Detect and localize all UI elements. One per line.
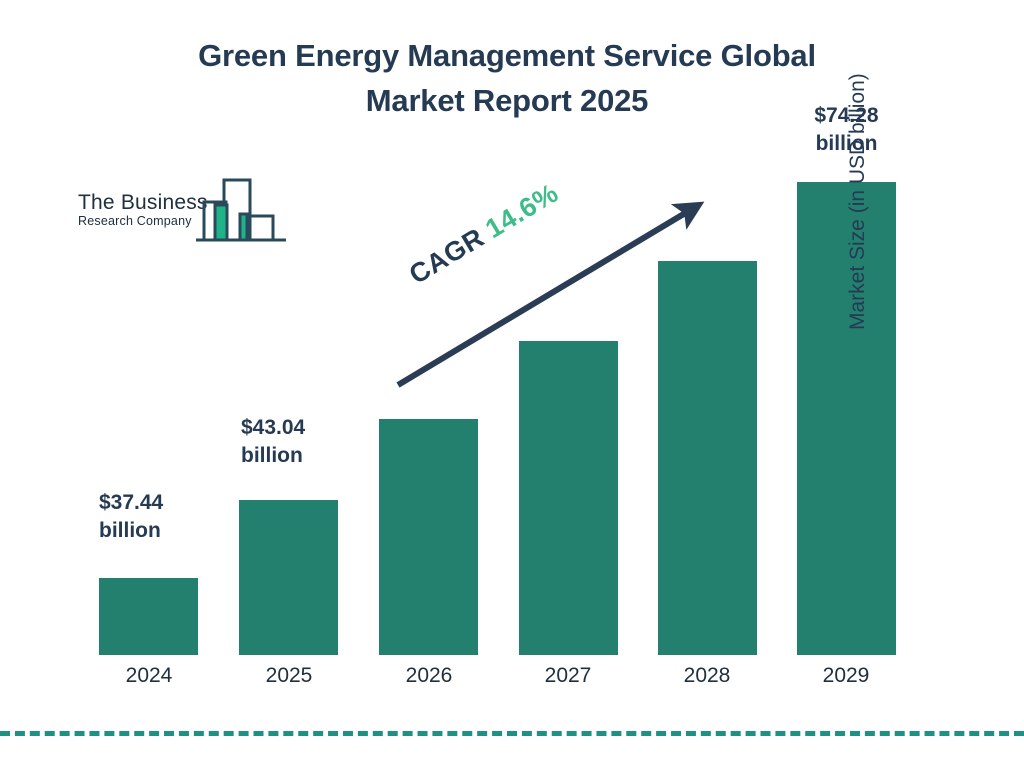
bar-chart-logo-icon — [196, 176, 286, 250]
bar-value-label-2025: $43.04 billion — [241, 414, 305, 470]
bar-2024 — [99, 578, 198, 655]
bar-value-2024: $37.44 — [99, 489, 163, 517]
brand-logo-line-2: Research Company — [78, 214, 208, 229]
brand-logo: The Business Research Company — [78, 176, 283, 250]
brand-logo-text: The Business Research Company — [78, 192, 208, 229]
brand-logo-line-1: The Business — [78, 192, 208, 214]
bar-value-label-2024: $37.44 billion — [99, 489, 163, 545]
bar-2026 — [379, 419, 478, 655]
page-title: Green Energy Management Service Global M… — [112, 33, 902, 123]
cagr-arrow-icon — [380, 185, 720, 400]
chart-canvas: Green Energy Management Service Global M… — [0, 0, 1024, 768]
x-tick-2024: 2024 — [99, 664, 199, 688]
bar-unit-2025: billion — [241, 442, 305, 470]
bar-2025 — [239, 500, 338, 655]
bar-value-2025: $43.04 — [241, 414, 305, 442]
x-tick-2025: 2025 — [239, 664, 339, 688]
x-tick-2029: 2029 — [796, 664, 896, 688]
x-tick-2028: 2028 — [657, 664, 757, 688]
bar-unit-2024: billion — [99, 517, 163, 545]
x-tick-2027: 2027 — [518, 664, 618, 688]
page-title-line-2: Market Report 2025 — [112, 78, 902, 123]
x-tick-2026: 2026 — [379, 664, 479, 688]
footer-divider — [0, 731, 1024, 736]
page-title-line-1: Green Energy Management Service Global — [112, 33, 902, 78]
y-axis-title: Market Size (in USD billion) — [846, 0, 870, 330]
